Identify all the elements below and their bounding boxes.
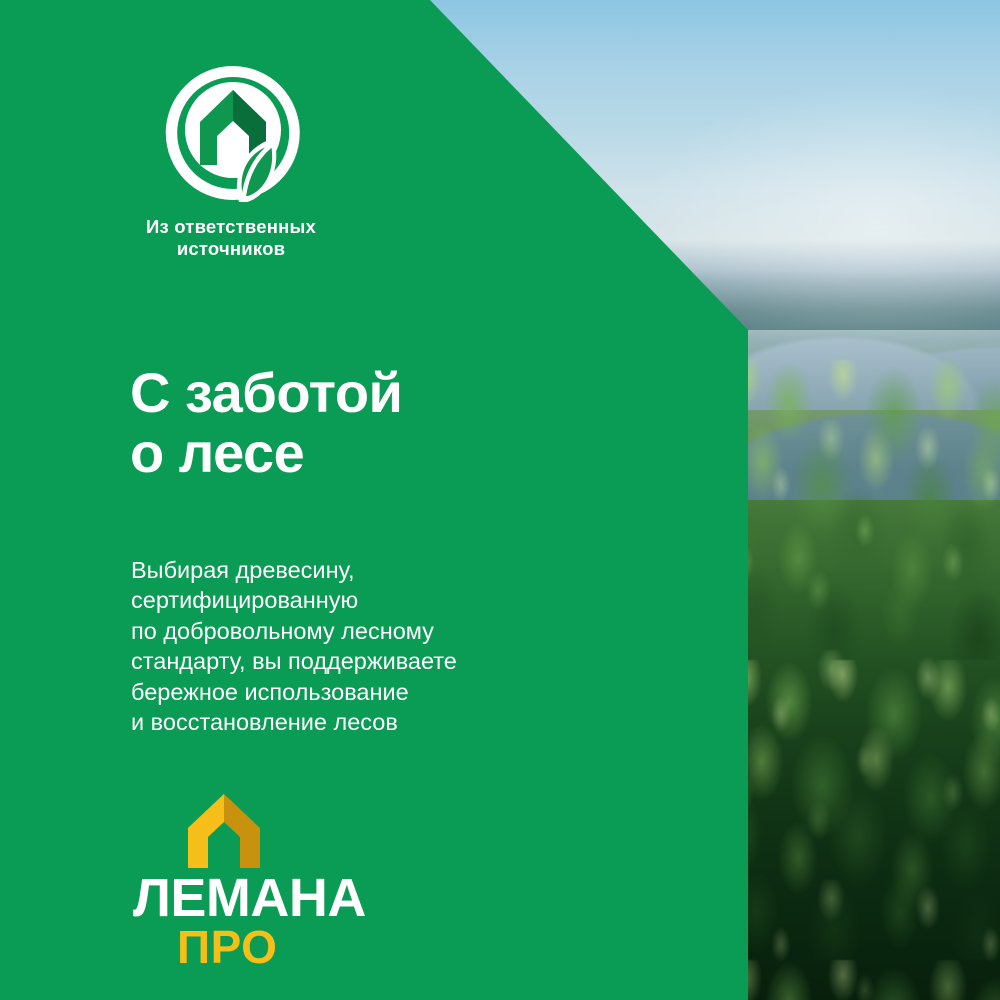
house-leaf-circle-icon	[162, 62, 304, 204]
brand-name: ЛЕМАНА	[133, 874, 383, 924]
headline: С заботой о лесе	[130, 363, 650, 484]
brand-subtitle: ПРО	[177, 926, 383, 968]
certification-caption: Из ответственных источников	[126, 216, 336, 260]
brand-logo: ЛЕМАНА ПРО	[133, 792, 383, 968]
certification-logo: Из ответственных источников	[126, 62, 346, 260]
body-copy: Выбирая древесину, сертифицированную по …	[131, 555, 691, 738]
brand-wordmark: ЛЕМАНА ПРО	[133, 874, 383, 968]
house-roof-icon	[178, 792, 270, 870]
poster-canvas: Из ответственных источников С заботой о …	[0, 0, 1000, 1000]
